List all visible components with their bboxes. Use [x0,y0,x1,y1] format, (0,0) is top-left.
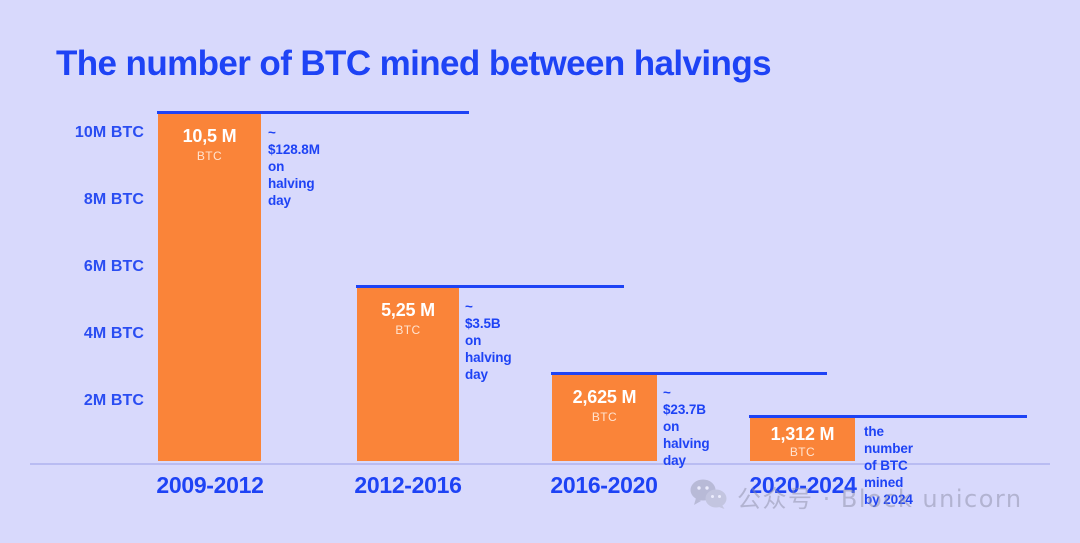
y-axis-tick-10m: 10M BTC [32,124,144,142]
plot-area: 10M BTC 8M BTC 6M BTC 4M BTC 2M BTC 10,5… [0,0,1080,543]
x-axis-tick-2009-2012: 2009-2012 [138,472,282,499]
y-axis-tick-6m: 6M BTC [32,258,144,276]
bar-value-label-3: 2,625 M [552,387,657,408]
bar-2020-2024[interactable]: 1,312 M BTC [750,418,855,461]
y-axis-tick-8m: 8M BTC [32,191,144,209]
y-axis-tick-4m: 4M BTC [32,325,144,343]
y-axis: 10M BTC 8M BTC 6M BTC 4M BTC 2M BTC [32,0,144,543]
y-axis-tick-2m: 2M BTC [32,392,144,410]
bar-2016-2020[interactable]: 2,625 M BTC [552,375,657,461]
bar-2009-2012[interactable]: 10,5 M BTC [158,114,261,461]
x-axis-tick-2020-2024: 2020-2024 [731,472,875,499]
x-axis-tick-2012-2016: 2012-2016 [336,472,480,499]
bar-unit-label-4: BTC [750,445,855,459]
bar-annotation-2: ~ $3.5B on halving day [465,298,512,383]
bar-annotation-1: ~ $128.8M on halving day [268,124,320,209]
bar-value-label-4: 1,312 M [750,424,855,445]
bar-annotation-3: ~ $23.7B on halving day [663,384,710,469]
bar-unit-label-3: BTC [552,410,657,424]
x-axis-tick-2016-2020: 2016-2020 [532,472,676,499]
chart-canvas: The number of BTC mined between halvings… [0,0,1080,543]
bar-2012-2016[interactable]: 5,25 M BTC [357,288,459,461]
bar-value-label-1: 10,5 M [158,126,261,147]
bar-unit-label-2: BTC [357,323,459,337]
bar-unit-label-1: BTC [158,149,261,163]
bar-value-label-2: 5,25 M [357,300,459,321]
